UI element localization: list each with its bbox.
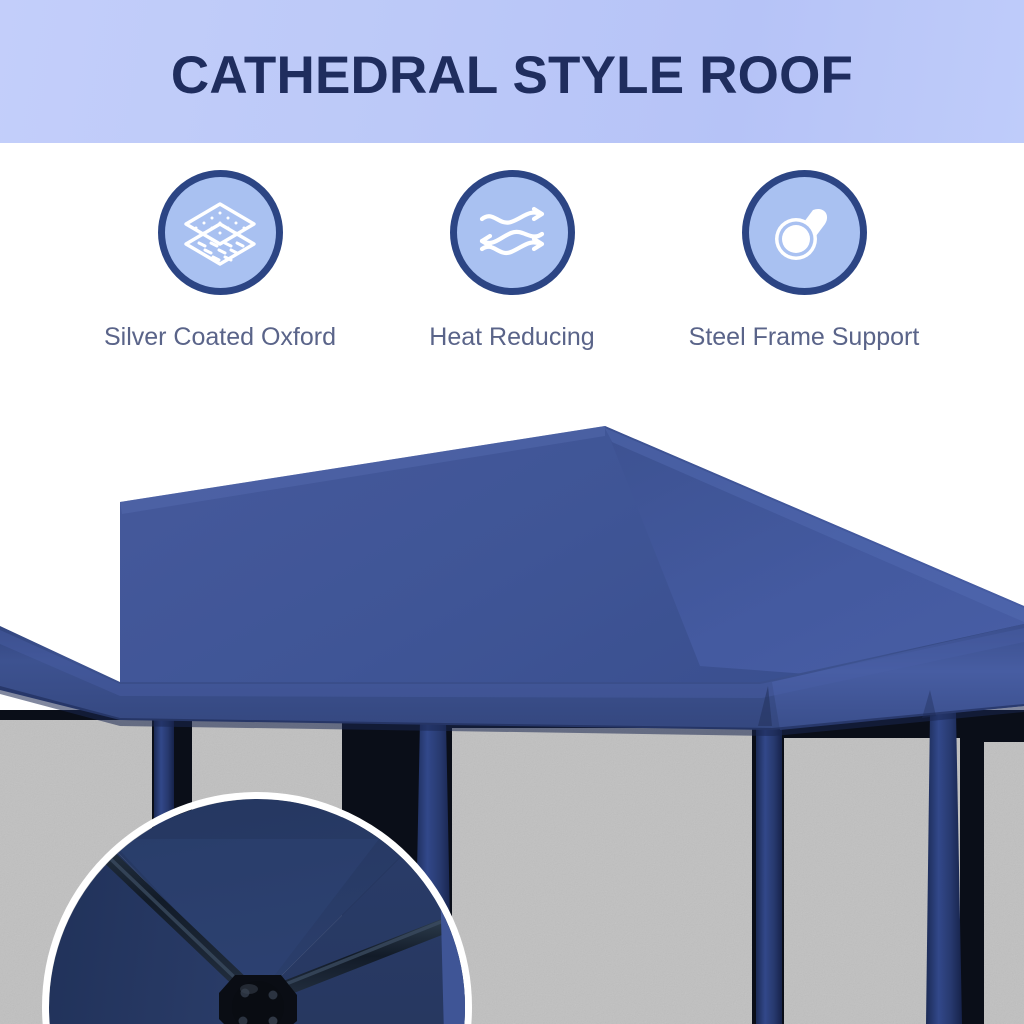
feature-item-heat-reducing: Heat Reducing xyxy=(366,170,658,352)
feature-item-silver-coated-oxford: Silver Coated Oxford xyxy=(74,170,366,352)
feature-icon-badge xyxy=(742,170,867,295)
feature-label: Silver Coated Oxford xyxy=(104,323,336,352)
feature-icon-badge xyxy=(158,170,283,295)
feature-item-steel-frame-support: Steel Frame Support xyxy=(658,170,950,352)
steel-tube-icon xyxy=(767,198,841,268)
feature-label: Steel Frame Support xyxy=(689,323,920,352)
feature-list: Silver Coated Oxford xyxy=(0,170,1024,352)
feature-icon-badge xyxy=(450,170,575,295)
infographic-page: CATHEDRAL STYLE ROOF xyxy=(0,0,1024,1024)
page-title: CATHEDRAL STYLE ROOF xyxy=(0,0,1024,143)
feature-label: Heat Reducing xyxy=(429,323,594,352)
fabric-layers-icon xyxy=(181,198,259,268)
airflow-waves-icon xyxy=(473,200,551,266)
header-banner: CATHEDRAL STYLE ROOF xyxy=(0,0,1024,143)
product-photo xyxy=(0,390,1024,1024)
